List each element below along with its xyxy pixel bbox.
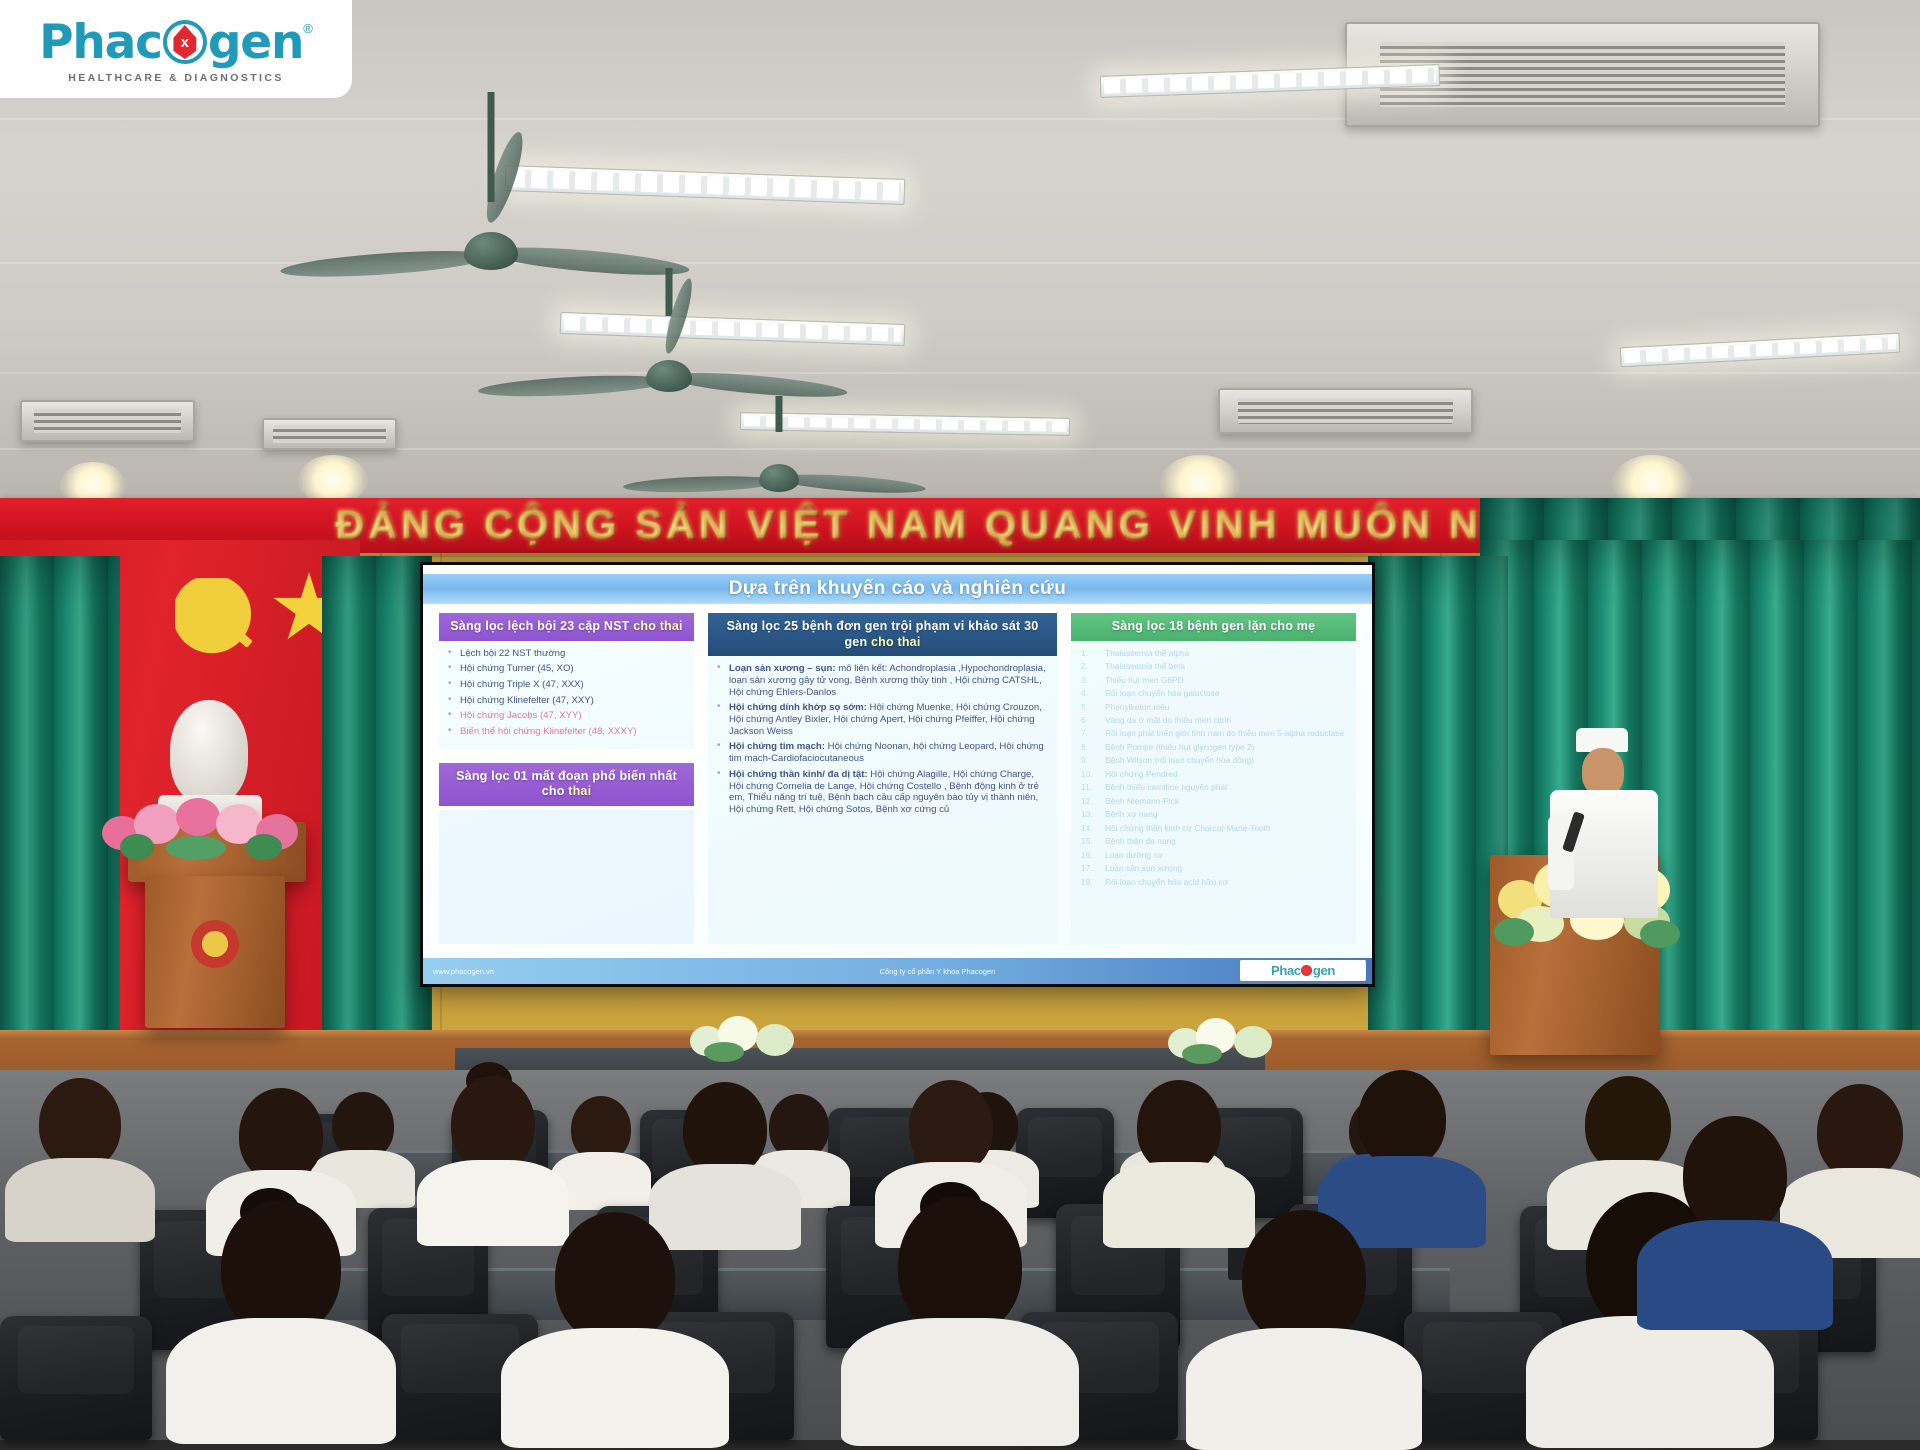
logo-tagline: HEALTHCARE & DIAGNOSTICS <box>68 72 284 84</box>
column-header-text: Sàng lọc 01 mất đoạn phổ biến nhất cho <box>456 769 677 799</box>
column-body-aneuploidy: Lệch bội 22 NST thường Hội chứng Turner … <box>439 641 694 749</box>
list-item: Hội chứng Turner (45, XO) <box>443 663 688 675</box>
audience-member <box>1216 1210 1392 1440</box>
column-header-microdeletion: Sàng lọc 01 mất đoạn phổ biến nhất cho t… <box>439 763 694 806</box>
audience-member <box>530 1212 700 1440</box>
list-item: Hội chứng Klinefelter (47, XXY) <box>443 695 688 707</box>
table-flower-arrangement <box>1168 1014 1288 1062</box>
list-item: Biến thể hội chứng Klinefelter (48, XXXY… <box>443 726 688 738</box>
logo-wordmark: Phac x gen ® <box>39 15 313 70</box>
phacogen-logo-badge: Phac x gen ® HEALTHCARE & DIAGNOSTICS <box>0 0 352 98</box>
list-item-label: Hội chứng tim mạch: <box>729 741 825 752</box>
slide-column-aneuploidy: Sàng lọc lệch bội 23 cặp NST cho thai Lệ… <box>439 613 694 944</box>
conference-hall-photo: ĐẢNG CỘNG SẢN VIỆT NAM QUANG VINH MUÔN N… <box>0 0 1920 1440</box>
list-item: Hội chứng Jacobs (47, XYY) <box>443 710 688 722</box>
list-item-label: Loạn sản xương – sụn: <box>729 663 836 674</box>
list-item: Bệnh thiếu carnitine nguyên phát <box>1075 782 1350 792</box>
ceiling-ac-unit <box>1218 388 1473 434</box>
dna-drop-icon: x <box>163 20 207 64</box>
list-item: Thalassemia thể beta <box>1075 661 1350 671</box>
hammer-sickle-emblem <box>175 578 267 658</box>
list-item: Rối loạn chuyển hóa acid hữu cơ <box>1075 877 1350 887</box>
list-item: Hội chứng thần kinh/ đa dị tật: Hội chứn… <box>712 769 1051 816</box>
list-item: Hội chứng dính khớp sọ sớm: Hội chứng Mu… <box>712 702 1051 737</box>
presentation-slide: Dựa trên khuyến cáo và nghiên cứu Sàng l… <box>423 565 1372 984</box>
column-body-recessive: Thalassemia thể alpha Thalassemia thể be… <box>1071 641 1356 944</box>
aneuploidy-list: Lệch bội 22 NST thường Hội chứng Turner … <box>443 648 688 738</box>
table-flower-arrangement <box>690 1012 810 1060</box>
list-item: Loạn sản xương – sụn: mô liên kết: Achon… <box>712 663 1051 698</box>
list-item: Loạn sản sụn xương <box>1075 863 1350 873</box>
list-item: Loạn dưỡng cơ <box>1075 850 1350 860</box>
slide-footer: www.phacogen.vn Công ty cổ phần Y khoa P… <box>423 958 1372 984</box>
slide-title-bar: Dựa trên khuyến cáo và nghiên cứu <box>423 574 1372 604</box>
list-item: Thiếu hụt men G6PD <box>1075 675 1350 685</box>
fluorescent-light <box>505 165 906 205</box>
projection-screen: Dựa trên khuyến cáo và nghiên cứu Sàng l… <box>420 562 1375 987</box>
audience-member <box>1800 1084 1920 1252</box>
list-item: Hội chứng thần kinh cơ Charcot-Marie-Too… <box>1075 823 1350 833</box>
slide-column-recessive: Sàng lọc 18 bệnh gen lặn cho mẹ Thalasse… <box>1071 613 1356 944</box>
column-header-text: Sàng lọc lệch bội 23 cặp NST <box>450 619 629 633</box>
left-flower-arrangement <box>96 790 316 860</box>
column-header-aneuploidy: Sàng lọc lệch bội 23 cặp NST cho thai <box>439 613 694 641</box>
column-header-highlight: thai <box>568 784 591 798</box>
column-body-microdeletion <box>439 810 694 944</box>
left-podium-body <box>145 876 285 1028</box>
list-item: Thalassemia thể alpha <box>1075 648 1350 658</box>
dna-glyph: x <box>178 33 191 53</box>
audience-chair <box>0 1316 152 1440</box>
fluorescent-light <box>740 412 1070 436</box>
list-item: Hội chứng tim mạch: Hội chứng Noonan, hộ… <box>712 741 1051 764</box>
stage-curtain-center-left <box>322 556 432 1101</box>
column-header-highlight: cho mẹ <box>1270 619 1315 633</box>
column-header-highlight: cho thai <box>871 635 921 649</box>
fluorescent-light <box>560 312 906 346</box>
list-item: Bệnh Pompe (thiếu hụt glycogen type 2) <box>1075 742 1350 752</box>
column-header-highlight: cho thai <box>633 619 683 633</box>
stage-curtain-center-right <box>1368 556 1508 1101</box>
logo-text-right: gen <box>208 15 303 70</box>
slide-columns: Sàng lọc lệch bội 23 cặp NST cho thai Lệ… <box>439 613 1356 944</box>
fluorescent-light <box>1620 333 1901 368</box>
ceiling-fan <box>490 92 491 93</box>
presenter-head <box>1582 748 1624 796</box>
audience-member <box>558 1096 644 1206</box>
list-item: Vàng da ứ mật do thiếu men citrin <box>1075 715 1350 725</box>
column-body-dominant: Loạn sản xương – sụn: mô liên kết: Achon… <box>708 656 1057 944</box>
column-header-dominant: Sàng lọc 25 bệnh đơn gen trội phạm vi kh… <box>708 613 1057 656</box>
banner-text: ĐẢNG CỘNG SẢN VIỆT NAM QUANG VINH MUÔN N… <box>335 503 1584 548</box>
logo-text-left: Phac <box>39 15 162 70</box>
footer-website: www.phacogen.vn <box>433 967 663 976</box>
ceiling-fan <box>778 396 779 397</box>
podium-emblem <box>191 920 239 968</box>
list-item: Phenylketon niệu <box>1075 702 1350 712</box>
list-item: Rối loạn chuyển hóa galactose <box>1075 688 1350 698</box>
presenter <box>1540 728 1670 918</box>
column-header-text: Sàng lọc 18 bệnh gen lặn <box>1112 619 1267 633</box>
list-item: Rối loạn phát triển giới tính nam do thi… <box>1075 728 1350 738</box>
list-item: Bệnh thận đa nang <box>1075 836 1350 846</box>
recessive-gene-list: Thalassemia thể alpha Thalassemia thể be… <box>1075 648 1350 887</box>
logo-text-right: gen <box>1313 963 1335 978</box>
list-item: Bệnh xơ nang <box>1075 809 1350 819</box>
list-item-label: Hội chứng dính khớp sọ sớm: <box>729 702 867 713</box>
list-item: Hội chứng Pendred <box>1075 769 1350 779</box>
slide-phacogen-logo: Phacgen <box>1240 960 1366 981</box>
slide-title-text: Dựa trên khuyến cáo và nghiên cứu <box>729 578 1066 600</box>
footer-company: Công ty cổ phần Y khoa Phacogen <box>663 967 1212 976</box>
audience-member <box>872 1196 1048 1440</box>
list-item: Bệnh Wilson (rối loạn chuyển hóa đồng) <box>1075 755 1350 765</box>
logo-drop-icon <box>1301 965 1312 976</box>
audience-member <box>20 1078 140 1238</box>
list-item: Bệnh Niemann-Pick <box>1075 796 1350 806</box>
dominant-gene-list: Loạn sản xương – sụn: mô liên kết: Achon… <box>712 663 1051 815</box>
slide-column-dominant: Sàng lọc 25 bệnh đơn gen trội phạm vi kh… <box>708 613 1057 944</box>
column-header-recessive: Sàng lọc 18 bệnh gen lặn cho mẹ <box>1071 613 1356 641</box>
audience-member <box>196 1200 366 1440</box>
ho-chi-minh-bust <box>170 700 248 804</box>
list-item: Hội chứng Triple X (47, XXX) <box>443 679 688 691</box>
ceiling-fan <box>668 268 669 269</box>
ceiling-ac-unit <box>20 400 195 442</box>
audience-member <box>1660 1116 1810 1322</box>
list-item-label: Hội chứng thần kinh/ đa dị tật: <box>729 769 868 780</box>
logo-text-left: Phac <box>1271 963 1301 978</box>
list-item: Lệch bội 22 NST thường <box>443 648 688 660</box>
registered-trademark: ® <box>303 21 313 36</box>
ceiling-ac-unit <box>262 418 397 450</box>
